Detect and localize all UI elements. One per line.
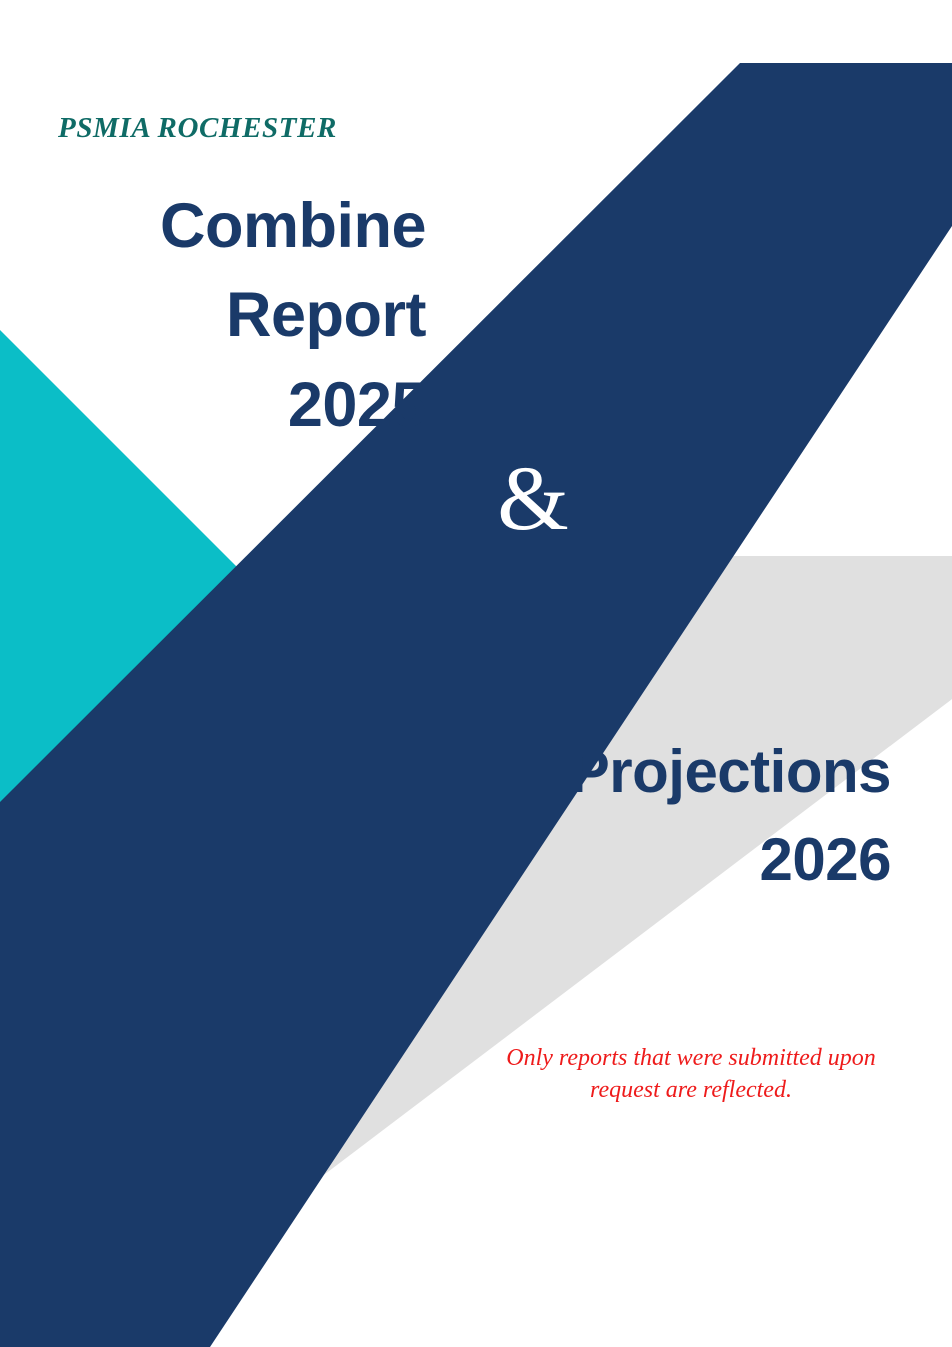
page-title-primary-line-1: Combine bbox=[40, 182, 426, 271]
page-title-primary: Combine Report 2025 bbox=[40, 182, 426, 450]
ampersand-conjunction: & bbox=[478, 452, 588, 544]
organisation-name: PSMIA ROCHESTER bbox=[58, 112, 478, 145]
report-cover-page: PSMIA ROCHESTER Combine Report 2025 & Pr… bbox=[0, 0, 952, 1347]
disclaimer-note: Only reports that were submitted upon re… bbox=[500, 1043, 882, 1106]
page-title-secondary-line-1: Projections bbox=[455, 728, 891, 816]
page-title-primary-line-2: Report bbox=[40, 271, 426, 360]
page-title-secondary-line-2: 2026 bbox=[455, 816, 891, 904]
page-title-secondary: Projections 2026 bbox=[455, 728, 891, 904]
page-title-primary-line-3: 2025 bbox=[40, 361, 426, 450]
